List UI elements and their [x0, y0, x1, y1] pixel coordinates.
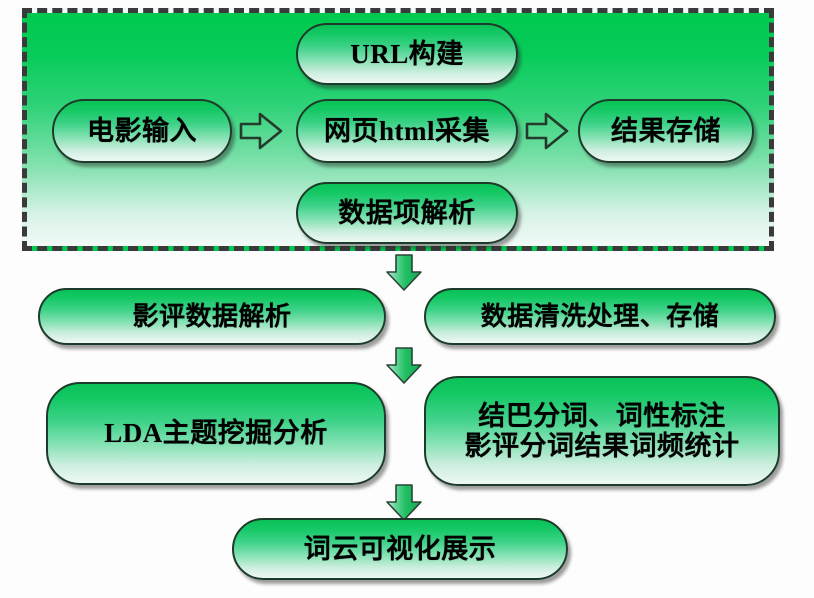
node-lda-topic-mining-label: LDA主题挖掘分析 [104, 418, 328, 448]
node-result-store-label: 结果存储 [611, 116, 721, 146]
node-review-data-parse-label: 影评数据解析 [132, 302, 291, 331]
node-data-item-parse-label: 数据项解析 [338, 198, 476, 228]
down-arrow-icon-3 [384, 484, 424, 522]
diagram-canvas: URL构建 电影输入 网页html采集 结果存储 数据项解析 [0, 0, 814, 598]
node-data-item-parse[interactable]: 数据项解析 [296, 182, 518, 244]
node-wordcloud-visualization[interactable]: 词云可视化展示 [232, 518, 568, 580]
node-movie-input[interactable]: 电影输入 [52, 99, 232, 163]
node-wordcloud-visualization-label: 词云可视化展示 [304, 534, 497, 564]
node-url-build-label: URL构建 [350, 39, 464, 69]
node-html-collect-label: 网页html采集 [324, 116, 490, 146]
down-arrow-icon-2 [384, 347, 424, 385]
node-data-clean-store[interactable]: 数据清洗处理、存储 [424, 288, 776, 345]
down-arrow-icon-1 [384, 254, 424, 292]
node-result-store[interactable]: 结果存储 [578, 99, 754, 163]
right-arrow-icon-1 [238, 108, 284, 154]
right-arrow-icon-2 [524, 108, 570, 154]
node-jieba-text-group: 结巴分词、词性标注 影评分词结果词频统计 [465, 401, 740, 461]
node-review-data-parse[interactable]: 影评数据解析 [38, 288, 386, 345]
node-movie-input-label: 电影输入 [87, 116, 197, 146]
node-html-collect[interactable]: 网页html采集 [296, 99, 518, 163]
node-jieba-label-line1: 结巴分词、词性标注 [465, 401, 740, 431]
node-jieba-segmentation[interactable]: 结巴分词、词性标注 影评分词结果词频统计 [424, 376, 780, 486]
node-url-build[interactable]: URL构建 [296, 23, 518, 85]
node-jieba-label-line2: 影评分词结果词频统计 [465, 431, 740, 461]
node-data-clean-store-label: 数据清洗处理、存储 [481, 302, 720, 331]
node-lda-topic-mining[interactable]: LDA主题挖掘分析 [46, 382, 386, 485]
